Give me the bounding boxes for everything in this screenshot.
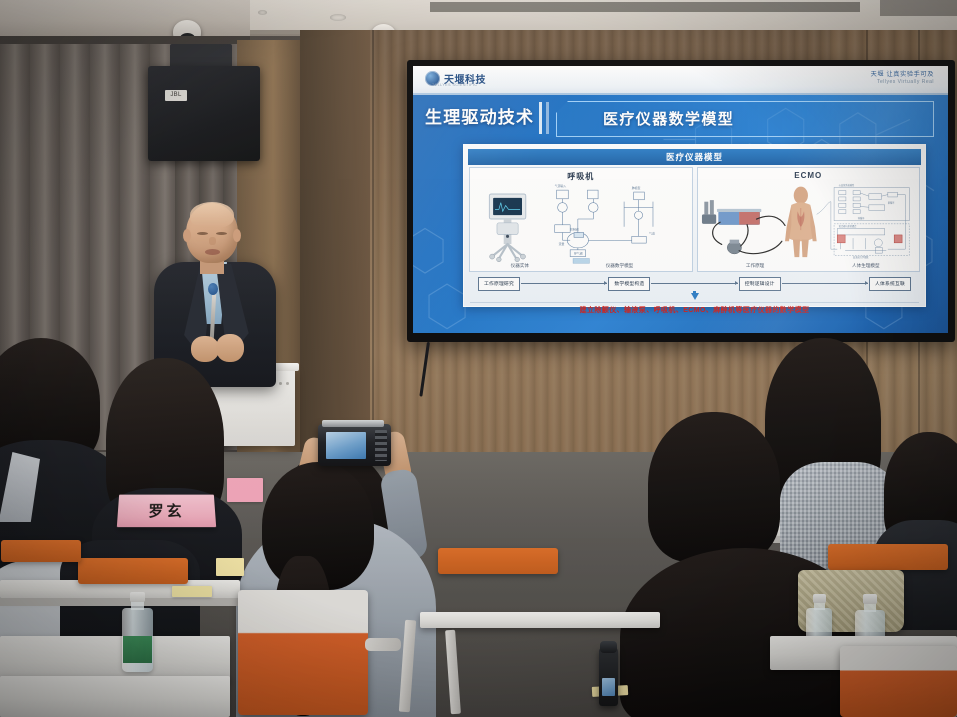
ecmo-diagram-icon: 心血管系统模型 体循环 氧合器与泵的耦合 血流动力学参数 肺循环 [698,168,920,271]
sticky-note-yellow [216,558,244,576]
podium-marker [286,382,289,385]
conclusion-row: 建立除颤仪、输液泵、呼吸机、ECMO、麻醉机等医疗仪器的数学模型 [470,302,919,316]
svg-text:气源输入: 气源输入 [555,183,567,188]
svg-text:呼气阀: 呼气阀 [574,251,583,256]
presentation-slide: 天堰科技 TELLYES SCIENTIFIC 天堰 让真实验手可及 Telly… [413,66,948,333]
chair-front-right [840,646,957,717]
chair-back-right [828,544,948,570]
presenter-hand-right [216,334,244,362]
curtain-rail [0,36,250,44]
camera-top-plate [322,420,384,427]
svg-text:控制阀: 控制阀 [570,227,579,232]
camera-screen [326,432,366,459]
display-bezel: 天堰科技 TELLYES SCIENTIFIC 天堰 让真实验手可及 Telly… [413,66,948,333]
slide-title-row: 生理驱动技术 医疗仪器数学模型 [413,97,948,141]
desk-edge [0,598,240,606]
pane-caption-model: 仪器数学模型 [559,263,681,269]
bottle-label [123,636,152,663]
ceiling-light-slot-right [880,0,957,16]
chair-orange-mid [238,590,368,715]
flow-step-1: 工作原理研究 [478,277,520,291]
podium-marker [279,382,282,385]
desk-front-surface-left [0,676,230,717]
pane-ecmo: ECMO [697,167,921,272]
camera-buttons[interactable] [375,430,387,461]
jbl-logo: JBL [165,90,187,101]
ceiling-light-slot [430,2,860,12]
desk-row-mid-right [420,612,660,628]
slide-header: 天堰科技 TELLYES SCIENTIFIC 天堰 让真实验手可及 Telly… [413,66,948,95]
presenter-mouth [205,249,220,255]
svg-text:肺模型: 肺模型 [632,185,641,190]
wall-mounted-display[interactable]: 天堰科技 TELLYES SCIENTIFIC 天堰 让真实验手可及 Telly… [407,60,955,342]
content-card-title: 医疗仪器模型 [468,149,921,165]
presenter-ear-left [183,229,191,242]
conclusion-text: 建立除颤仪、输液泵、呼吸机、ECMO、麻醉机等医疗仪器的数学模型 [580,305,810,315]
presenter-hand-left [191,336,219,362]
brand-logo-en: TELLYES SCIENTIFIC [432,83,477,87]
handheld-camera[interactable] [318,424,391,466]
flow-arrow-icon [651,283,737,284]
gimbal-screen [602,678,615,696]
bottle-cap [863,594,877,604]
microphone-head-icon [208,283,218,295]
wall-speaker [148,66,260,161]
svg-text:流量: 流量 [559,241,565,246]
brand-tagline-cn: 天堰 让真实验手可及 [871,71,934,79]
ceiling-sensor-icon [330,14,346,21]
pane-ventilator: 呼吸机 [469,167,693,272]
presenter-ear-right [233,229,241,242]
title-divider-secondary [546,102,549,134]
slide-header-underline [413,93,948,95]
bottle-cap [813,594,826,603]
svg-text:气道: 气道 [649,230,655,235]
bottle-cap [130,592,145,602]
slide-content-card: 医疗仪器模型 呼吸机 [463,144,926,307]
gimbal-head-icon [600,641,617,653]
lecture-hall-photo: JBL [0,0,957,717]
svg-text:心血管系统模型: 心血管系统模型 [838,183,854,187]
brand-tagline-en: Tellyes Virtually Real [871,79,934,85]
process-flow: 工作原理研究 数学模型构造 控制逻辑设计 人体系统互联 [478,276,911,291]
flow-step-3: 控制逻辑设计 [739,277,781,291]
presenter-eye-left [197,232,208,235]
chair-back-center [438,548,558,574]
flow-step-2: 数学模型构造 [608,277,650,291]
sticky-note-yellow [172,586,212,597]
slide-category-tab: 生理驱动技术 [425,103,534,128]
pane-caption-physiology: 人体生理模型 [813,263,919,269]
down-arrow-icon [691,293,699,300]
flow-step-4: 人体系统互联 [869,277,911,291]
ceiling-sensor-icon [258,10,267,15]
svg-text:氧合器与泵的耦合: 氧合器与泵的耦合 [838,224,856,228]
pane-caption-instrument: 仪器实体 [470,263,570,269]
chair-back-left [78,558,188,584]
attendee-head-right-mid [648,412,780,562]
name-placard: 罗玄 [117,495,216,528]
diagram-panes: 呼吸机 [469,167,920,272]
pane-caption-principle: 工作原理 [698,263,813,269]
flow-arrow-icon [521,283,607,284]
water-bottle-left [122,592,153,672]
presenter-eye-right [216,232,227,235]
brand-tagline: 天堰 让真实验手可及 Tellyes Virtually Real [871,71,934,85]
chair-back-far-left [1,540,81,562]
slide-title-text: 医疗仪器数学模型 [603,108,734,129]
flow-arrow-icon [782,283,868,284]
svg-text:体循环: 体循环 [857,216,864,220]
presenter-scalp [190,202,234,228]
presenter-nose [209,237,216,245]
ventilator-diagram-icon: 气源输入 控制阀 呼气阀 肺模型 流量 气道 [470,168,692,271]
chair-foot [365,638,401,651]
gimbal-camera[interactable] [599,648,618,706]
title-divider [539,102,542,134]
sticky-note-pink [227,478,263,502]
jbl-logo-text: JBL [165,90,187,101]
svg-text:肺循环: 肺循环 [887,200,894,204]
name-placard-text: 罗玄 [148,500,185,521]
presenter-head [186,203,238,263]
